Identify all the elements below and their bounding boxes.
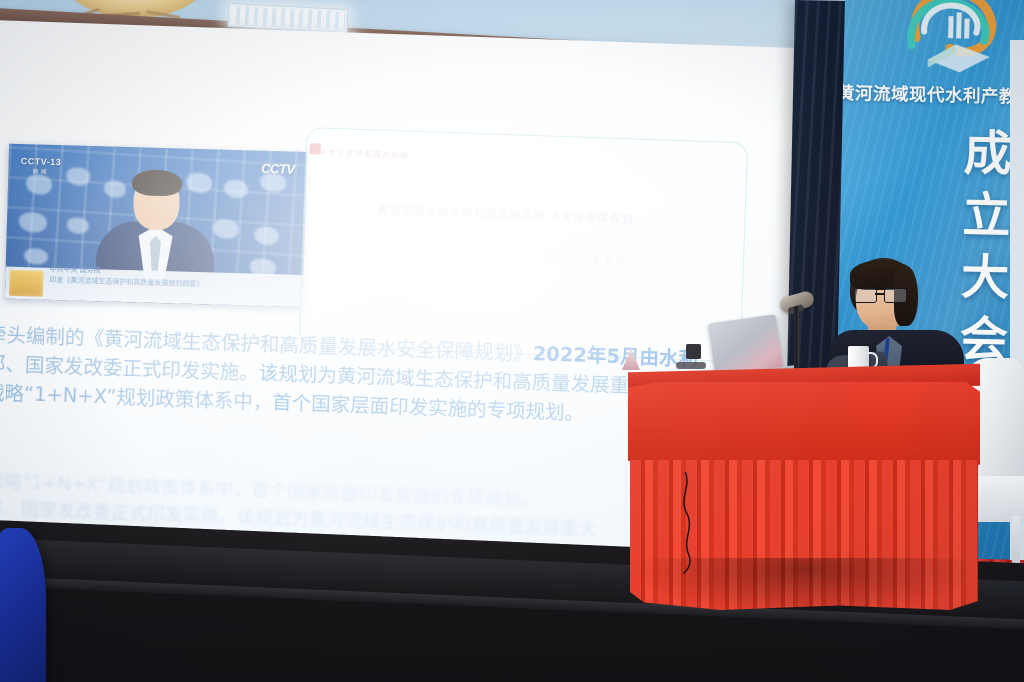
document-frame: [299, 127, 748, 362]
red-draped-speaker-table: [628, 368, 980, 613]
banner-subtitle: 黄河流域现代水利产教融: [837, 80, 1024, 110]
cctv13-watermark: CCTV-13 新闻: [20, 156, 61, 176]
yellow-river-water-conservancy-swirl-logo: [897, 0, 1009, 87]
conference-photo-scene: CCTV-13 新闻 CCTV 中共中央 国务院 印发《黄河流域生态保护和高质量…: [0, 0, 1024, 682]
news-caption: 中共中央 国务院 印发《黄河流域生态保护和高质量发展规划纲要》: [49, 265, 204, 290]
table-small-device: [686, 344, 701, 359]
audience-member-shoulder: [0, 528, 46, 682]
cctv-logo: CCTV: [261, 161, 295, 177]
table-shadow: [628, 558, 980, 616]
table-glasses: [676, 362, 706, 369]
cctv-news-video-still: CCTV-13 新闻 CCTV 中共中央 国务院 印发《黄河流域生态保护和高质量…: [5, 144, 307, 307]
microphone-stand: [794, 306, 799, 376]
presenter-glasses: [854, 288, 906, 301]
news-program-badge: [9, 270, 44, 297]
